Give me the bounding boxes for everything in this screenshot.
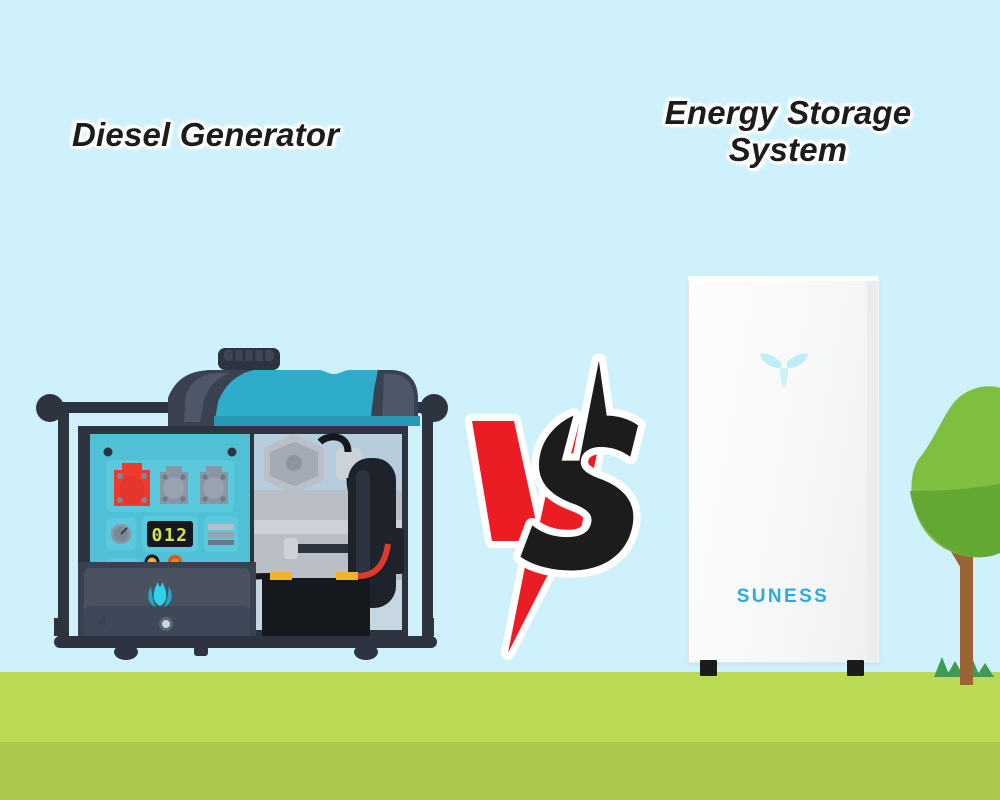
vs-letter-s <box>520 361 638 571</box>
tree <box>900 385 1000 685</box>
diesel-generator: 012 <box>18 330 468 680</box>
panel-screw-tr <box>228 448 237 457</box>
vs-badge: VS <box>452 335 652 665</box>
ground-lower-band <box>0 742 1000 800</box>
fuel-tank <box>168 370 420 426</box>
title-energy-storage-system: Energy Storage System <box>632 95 944 169</box>
sprout-leaf-logo <box>756 338 812 390</box>
ground-upper-band <box>0 672 1000 742</box>
cabinet-foot-right <box>847 660 864 676</box>
energy-storage-cabinet: SUNESS <box>684 276 884 676</box>
panel-screw-tl <box>104 448 113 457</box>
cabinet-top-edge <box>688 276 878 281</box>
cabinet-foot-left <box>700 660 717 676</box>
illustration-scene: 012 <box>0 0 1000 800</box>
battery-terminal-neg <box>270 572 292 580</box>
brand-label: SUNESS <box>684 586 882 608</box>
lower-housing <box>78 562 256 646</box>
vent-block <box>204 516 238 552</box>
battery <box>262 578 370 636</box>
display-value: 012 <box>151 525 188 546</box>
analog-gauge <box>106 518 136 550</box>
battery-terminal-pos <box>336 572 358 580</box>
fuel-cap <box>218 348 280 370</box>
title-diesel-generator: Diesel Generator <box>72 117 339 154</box>
digital-display: 012 <box>142 516 198 552</box>
